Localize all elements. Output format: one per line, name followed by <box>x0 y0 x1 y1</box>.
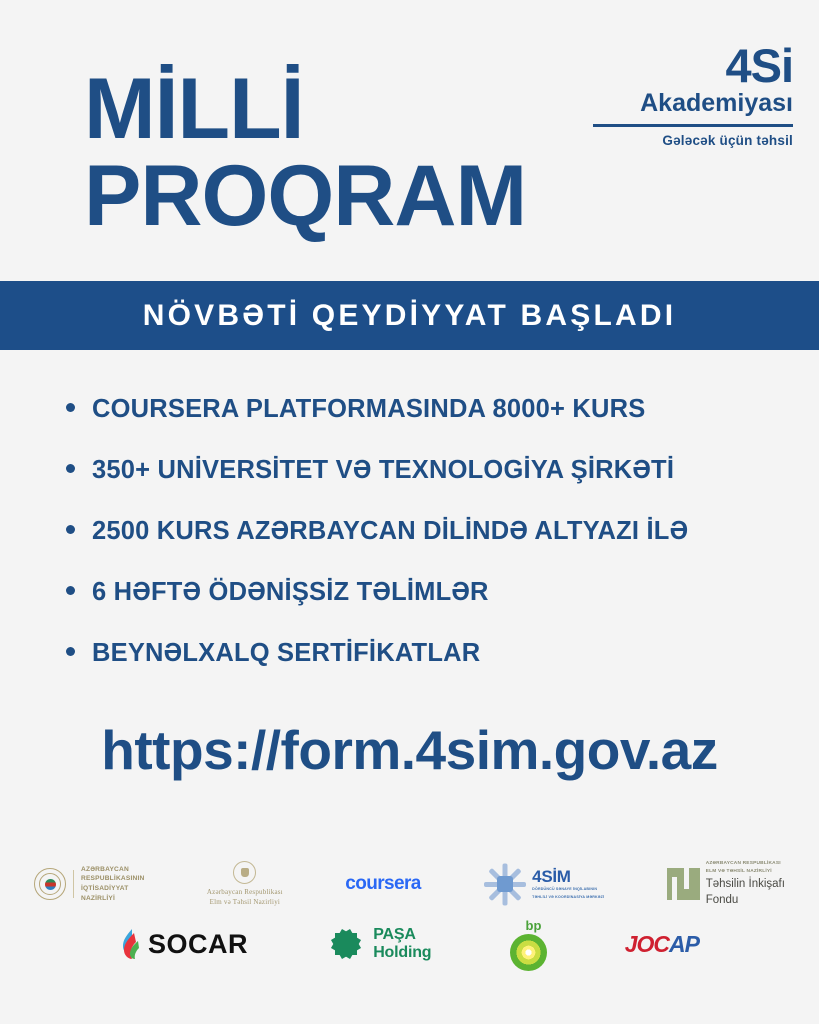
list-item: 350+ UNİVERSİTET VƏ TEXNOLOGİYA ŞİRKƏTİ <box>66 456 766 517</box>
headline-line-1: MİLLİ <box>84 68 526 151</box>
list-item: 6 HƏFTƏ ÖDƏNİŞSİZ TƏLİMLƏR <box>66 578 766 639</box>
logo-education-development-fund-text: AZƏRBAYCAN RESPUBLİKASI ELM VƏ TƏHSİL NA… <box>706 860 785 907</box>
brand-subtitle: Akademiyası <box>593 90 793 118</box>
poster-root: 4Si Akademiyası Gələcək üçün təhsil MİLL… <box>0 0 819 1024</box>
logo-pasa-holding: PAŞA Holding <box>326 925 431 964</box>
logo-education-development-fund: AZƏRBAYCAN RESPUBLİKASI ELM VƏ TƏHSİL NA… <box>667 860 785 907</box>
partner-logo-row-2: SOCAR PAŞA Holding bp JOCAP <box>0 916 819 972</box>
logo-coursera-text: coursera <box>345 873 420 895</box>
logo-divider <box>73 870 74 898</box>
socar-flame-icon <box>120 929 140 959</box>
logo-text-line: TƏHLİLİ VƏ KOORDİNASİYA MƏRKƏZİ <box>532 895 604 900</box>
logo-text-line: İQTİSADİYYAT <box>81 884 144 894</box>
logo-text-line: NAZİRLİYİ <box>81 894 144 904</box>
fund-mark-icon <box>667 868 700 900</box>
logo-text-line: Fondu <box>706 893 785 907</box>
headline-line-2: PROQRAM <box>84 155 526 238</box>
snowflake-icon <box>483 862 527 906</box>
brand-slogan: Gələcək üçün təhsil <box>593 133 793 148</box>
feature-text: BEYNƏLXALQ SERTİFİKATLAR <box>92 639 480 668</box>
partner-logo-row-1: AZƏRBAYCAN RESPUBLİKASININ İQTİSADİYYAT … <box>0 856 819 912</box>
logo-ministry-of-economy-text: AZƏRBAYCAN RESPUBLİKASININ İQTİSADİYYAT … <box>81 865 144 903</box>
logo-text-line: Azərbaycan Respublikası <box>207 887 283 898</box>
bullet-icon <box>66 647 75 656</box>
feature-text: 6 HƏFTƏ ÖDƏNİŞSİZ TƏLİMLƏR <box>92 578 489 607</box>
bullet-icon <box>66 464 75 473</box>
logo-socar-text: SOCAR <box>148 929 248 960</box>
logo-ministry-of-science-education: Azərbaycan Respublikası Elm və Təhsil Na… <box>207 861 283 908</box>
logo-pasa-holding-text: PAŞA Holding <box>373 926 431 962</box>
logo-text-line: DÖRDÜNCÜ SƏNAYE İNQİLABININ <box>532 887 604 892</box>
logo-jocap: JOCAP <box>625 931 699 958</box>
logo-text-line: Elm və Təhsil Nazirliyi <box>207 897 283 908</box>
bullet-icon <box>66 403 75 412</box>
pasa-rosette-icon <box>326 925 365 964</box>
logo-4sim-text: 4SİM DÖRDÜNCÜ SƏNAYE İNQİLABININ TƏHLİLİ… <box>532 868 604 900</box>
list-item: BEYNƏLXALQ SERTİFİKATLAR <box>66 639 766 700</box>
feature-text: 2500 KURS AZƏRBAYCAN DİLİNDƏ ALTYAZI İLƏ <box>92 517 688 546</box>
brand-logo: 4Si Akademiyası Gələcək üçün təhsil <box>593 44 793 148</box>
logo-text-line: AZƏRBAYCAN <box>81 865 144 875</box>
logo-text-line: Holding <box>373 944 431 962</box>
announcement-banner: NÖVBƏTİ QEYDİYYAT BAŞLADI <box>0 281 819 350</box>
brand-name: 4Si <box>593 44 793 89</box>
list-item: COURSERA PLATFORMASINDA 8000+ KURS <box>66 395 766 456</box>
announcement-banner-text: NÖVBƏTİ QEYDİYYAT BAŞLADI <box>143 299 677 333</box>
logo-bp-text: bp <box>526 918 542 933</box>
logo-text-line: PAŞA <box>373 926 431 944</box>
bullet-icon <box>66 586 75 595</box>
feature-list: COURSERA PLATFORMASINDA 8000+ KURS 350+ … <box>66 395 766 700</box>
registration-url[interactable]: https://form.4sim.gov.az <box>0 718 819 782</box>
logo-bp: bp <box>510 918 547 971</box>
logo-text-line: ELM VƏ TƏHSİL NAZİRLİYİ <box>706 868 785 875</box>
brand-divider <box>593 124 793 127</box>
logo-ministry-of-science-education-text: Azərbaycan Respublikası Elm və Təhsil Na… <box>207 887 283 908</box>
feature-text: 350+ UNİVERSİTET VƏ TEXNOLOGİYA ŞİRKƏTİ <box>92 456 674 485</box>
logo-socar: SOCAR <box>120 929 248 960</box>
page-title: MİLLİ PROQRAM <box>84 68 526 239</box>
logo-jocap-part1: JOC <box>625 931 669 957</box>
bullet-icon <box>66 525 75 534</box>
logo-jocap-text: JOCAP <box>625 931 699 958</box>
logo-4sim-name: 4SİM <box>532 868 604 885</box>
logo-text-line: RESPUBLİKASININ <box>81 874 144 884</box>
logo-4sim: 4SİM DÖRDÜNCÜ SƏNAYE İNQİLABININ TƏHLİLİ… <box>483 862 604 906</box>
logo-ministry-of-economy: AZƏRBAYCAN RESPUBLİKASININ İQTİSADİYYAT … <box>34 865 144 903</box>
logo-text-line: Təhsilin İnkişafı <box>706 877 785 891</box>
logo-jocap-part2: AP <box>669 931 699 957</box>
state-crest-icon <box>233 861 256 884</box>
logo-text-line: AZƏRBAYCAN RESPUBLİKASI <box>706 860 785 867</box>
bp-helios-icon <box>510 934 547 971</box>
azerbaijan-emblem-icon <box>34 868 66 900</box>
feature-text: COURSERA PLATFORMASINDA 8000+ KURS <box>92 395 645 424</box>
logo-coursera: coursera <box>345 873 420 895</box>
list-item: 2500 KURS AZƏRBAYCAN DİLİNDƏ ALTYAZI İLƏ <box>66 517 766 578</box>
